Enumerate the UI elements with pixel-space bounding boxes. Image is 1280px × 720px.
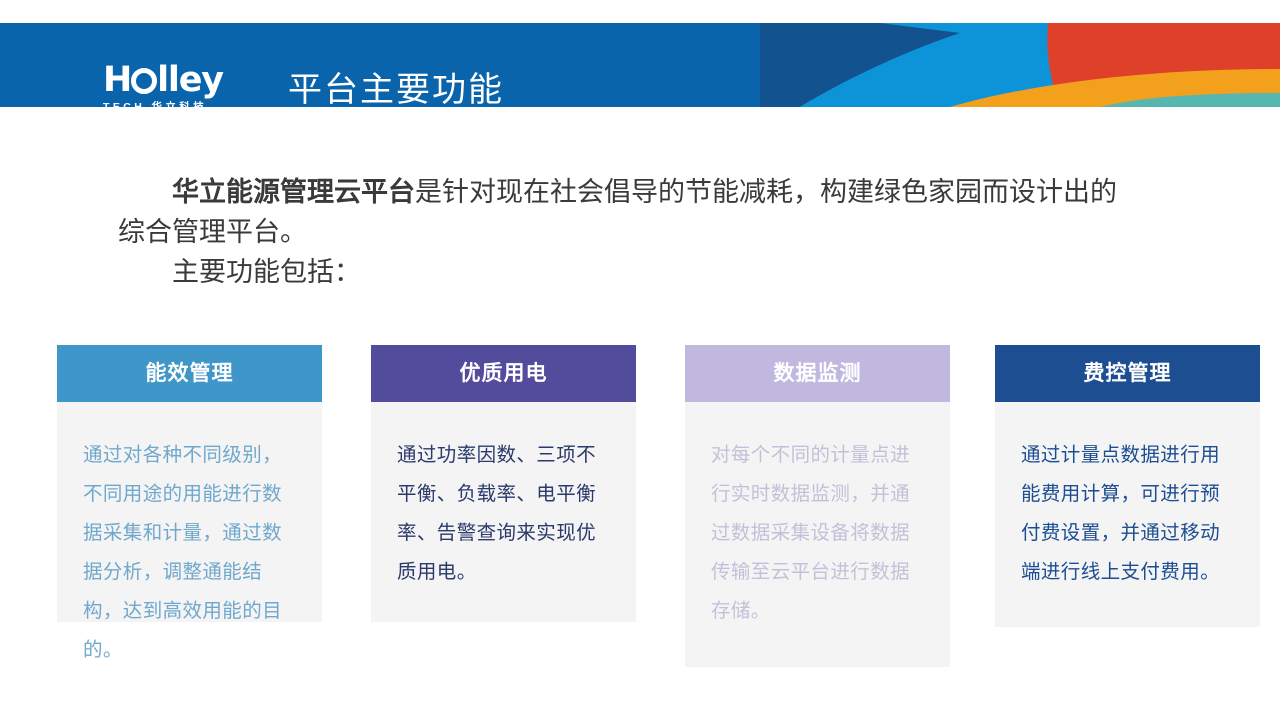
feature-card-quality-power[interactable]: 优质用电 通过功率因数、三项不平衡、负载率、电平衡率、告警查询来实现优质用电。 [371,345,636,622]
feature-card-data-monitoring[interactable]: 数据监测 对每个不同的计量点进行实时数据监测，并通过数据采集设备将数据传输至云平… [685,345,950,667]
page-title: 平台主要功能 [288,68,504,107]
intro-lead-in: 主要功能包括： [118,252,1128,292]
feature-card-energy-efficiency[interactable]: 能效管理 通过对各种不同级别，不同用途的用能进行数据采集和计量，通过数据分析，调… [57,345,322,622]
feature-card-title: 能效管理 [57,345,322,402]
slide-header-bar: Hlley TECH 华立科技 平台主要功能 [0,23,1280,107]
holley-logo: Hlley TECH 华立科技 [103,63,263,107]
feature-card-title: 优质用电 [371,345,636,402]
feature-card-body: 通过功率因数、三项不平衡、负载率、电平衡率、告警查询来实现优质用电。 [371,402,636,622]
feature-card-text: 通过功率因数、三项不平衡、负载率、电平衡率、告警查询来实现优质用电。 [397,436,610,592]
feature-card-text: 通过对各种不同级别，不同用途的用能进行数据采集和计量，通过数据分析，调整通能结构… [83,436,296,670]
intro-highlight: 华立能源管理云平台 [172,177,415,207]
feature-card-body: 通过计量点数据进行用能费用计算，可进行预付费设置，并通过移动端进行线上支付费用。 [995,402,1260,627]
logo-wordmark-post: lley [157,60,223,100]
logo-wordmark-pre: H [103,60,131,100]
feature-card-body: 通过对各种不同级别，不同用途的用能进行数据采集和计量，通过数据分析，调整通能结构… [57,402,322,622]
feature-card-title: 费控管理 [995,345,1260,402]
ribbon-swoosh-icon [760,23,1280,107]
intro-text-block: 华立能源管理云平台是针对现在社会倡导的节能减耗，构建绿色家园而设计出的综合管理平… [118,172,1128,292]
feature-card-title: 数据监测 [685,345,950,402]
intro-paragraph: 华立能源管理云平台是针对现在社会倡导的节能减耗，构建绿色家园而设计出的综合管理平… [118,172,1128,252]
logo-o-ring-icon [131,68,157,94]
feature-card-text: 通过计量点数据进行用能费用计算，可进行预付费设置，并通过移动端进行线上支付费用。 [1021,436,1234,592]
slide-canvas: Hlley TECH 华立科技 平台主要功能 华立能源管理云平台是针对现在社会倡… [0,0,1280,720]
logo-subtitle: TECH 华立科技 [103,101,263,107]
logo-wordmark: Hlley [103,63,263,97]
feature-card-fee-control[interactable]: 费控管理 通过计量点数据进行用能费用计算，可进行预付费设置，并通过移动端进行线上… [995,345,1260,627]
feature-card-text: 对每个不同的计量点进行实时数据监测，并通过数据采集设备将数据传输至云平台进行数据… [711,436,924,631]
feature-card-body: 对每个不同的计量点进行实时数据监测，并通过数据采集设备将数据传输至云平台进行数据… [685,402,950,667]
